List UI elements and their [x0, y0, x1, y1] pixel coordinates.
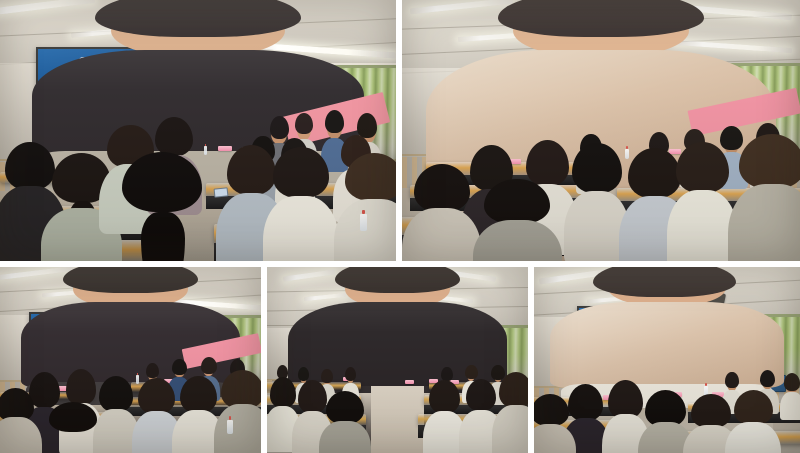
student-foreground [269, 157, 332, 261]
student-foreground [673, 151, 733, 261]
student-foreground [534, 401, 571, 453]
student-foreground [482, 188, 554, 261]
water-bottle [204, 146, 207, 155]
water-bottle [136, 375, 139, 384]
name-card [405, 380, 414, 384]
student-foreground [0, 393, 37, 453]
student-foreground [324, 397, 366, 453]
photo-panel-top-right [402, 0, 800, 261]
student-foreground [569, 151, 625, 261]
student [781, 377, 800, 418]
student-foreground [731, 397, 776, 453]
student-foreground [177, 382, 219, 453]
water-bottle [360, 214, 367, 231]
photo-panel-top-left [0, 0, 396, 261]
photo-panel-bottom-right [534, 267, 800, 453]
student-foreground [119, 162, 206, 261]
student-foreground [97, 382, 136, 453]
student-foreground [497, 379, 528, 453]
student-foreground [410, 172, 474, 261]
student-foreground [136, 384, 178, 453]
photo-collage [0, 0, 800, 453]
photo-panel-bottom-centre [267, 267, 528, 453]
student-foreground [219, 377, 261, 453]
student-foreground [47, 408, 99, 453]
student-foreground [426, 386, 463, 453]
photo-panel-bottom-left [0, 267, 261, 453]
student-foreground [341, 162, 396, 261]
student-foreground [736, 144, 800, 261]
student-foreground [643, 397, 688, 453]
water-bottle [227, 420, 233, 434]
